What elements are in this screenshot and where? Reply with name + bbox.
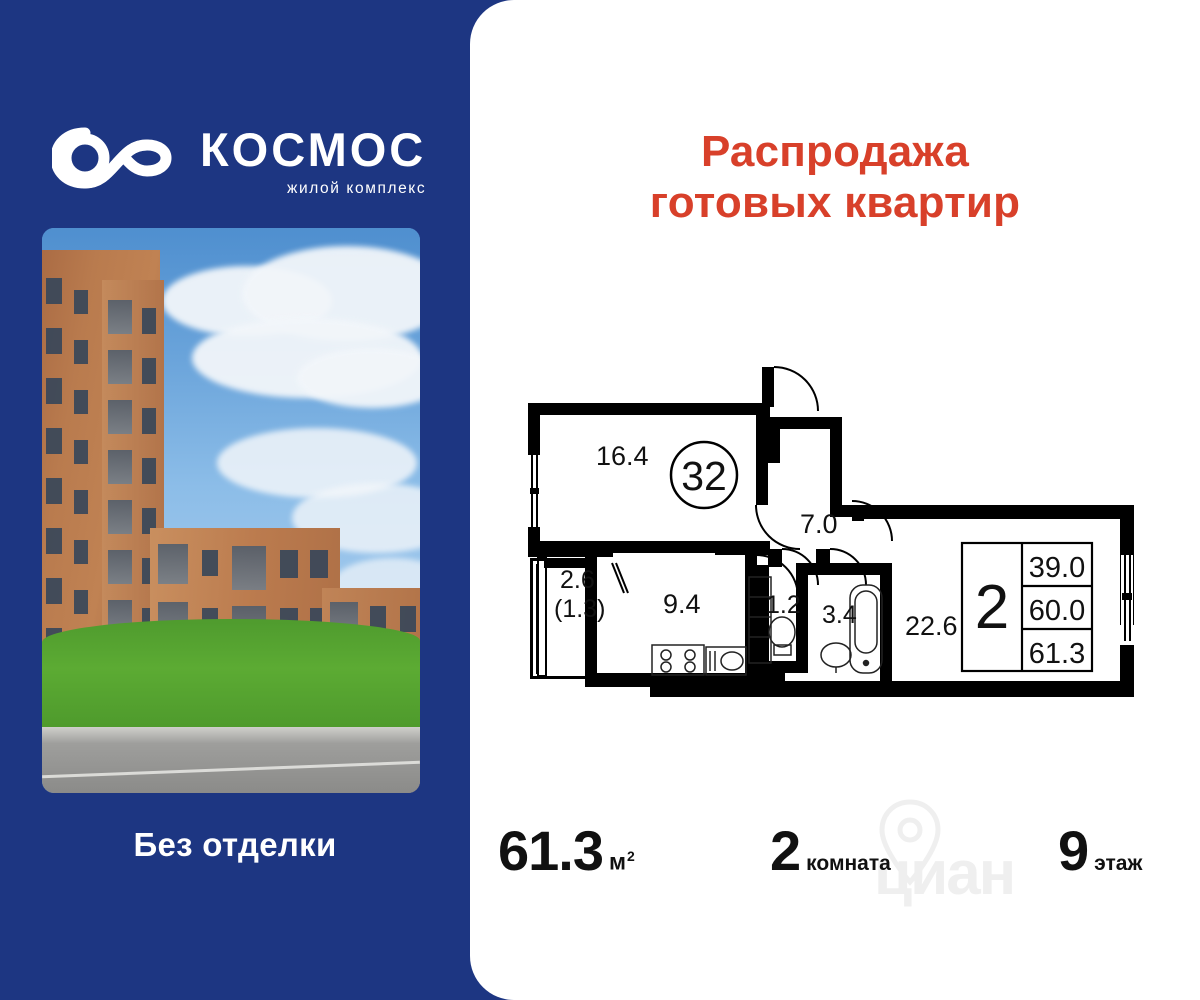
summary-floor: 9 этаж [1058, 818, 1142, 883]
road [42, 727, 420, 793]
svg-text:39.0: 39.0 [1029, 552, 1085, 584]
brand-name: КОСМОС [200, 126, 426, 173]
room-area-bath: 3.4 [822, 601, 857, 629]
brand-text: КОСМОС жилой комплекс [200, 122, 426, 198]
room-area-bedroom: 22.6 [905, 611, 958, 641]
summary-rooms: 2 комната [770, 818, 891, 883]
summary-floor-unit: этаж [1094, 852, 1142, 876]
svg-text:2: 2 [975, 573, 1009, 642]
room-area-kitchen: 9.4 [663, 589, 701, 619]
headline-line-2: готовых квартир [470, 177, 1200, 228]
brand-logo: КОСМОС жилой комплекс [52, 122, 426, 198]
room-area-hall: 7.0 [800, 509, 838, 539]
room-area-living: 16.4 [596, 441, 649, 471]
summary-area-value: 61.3 [498, 818, 603, 883]
apartment-number: 32 [681, 453, 727, 499]
room-area-wc: 1.2 [766, 591, 801, 619]
svg-text:60.0: 60.0 [1029, 595, 1085, 627]
summary-area: 61.3 м2 [498, 818, 635, 883]
brand-subtitle: жилой комплекс [200, 180, 426, 198]
lawn [42, 619, 420, 729]
svg-text:61.3: 61.3 [1029, 638, 1085, 670]
listing-card: Распродажа готовых квартир [470, 0, 1200, 1000]
summary-rooms-unit: комната [806, 852, 891, 876]
infinity-icon [52, 125, 182, 196]
floor-plan: 32 2 39.0 60.0 61.3 16.4 2.6 (1.3) 9.4 7… [500, 345, 1180, 715]
page-title: Распродажа готовых квартир [470, 126, 1200, 228]
room-area-balcony: 2.6 [560, 566, 595, 594]
left-panel: КОСМОС жилой комплекс [0, 0, 470, 1000]
listing-summary: 61.3 м2 2 комната 9 этаж [470, 812, 1200, 902]
info-table: 2 39.0 60.0 61.3 [962, 543, 1092, 671]
summary-floor-value: 9 [1058, 818, 1088, 883]
room-area-balcony-counted: (1.3) [554, 595, 605, 623]
finish-caption: Без отделки [0, 826, 470, 864]
summary-rooms-value: 2 [770, 818, 800, 883]
building-photo [42, 228, 420, 793]
road-marking [42, 761, 420, 779]
headline-line-1: Распродажа [701, 127, 969, 176]
summary-area-unit: м2 [609, 848, 635, 876]
